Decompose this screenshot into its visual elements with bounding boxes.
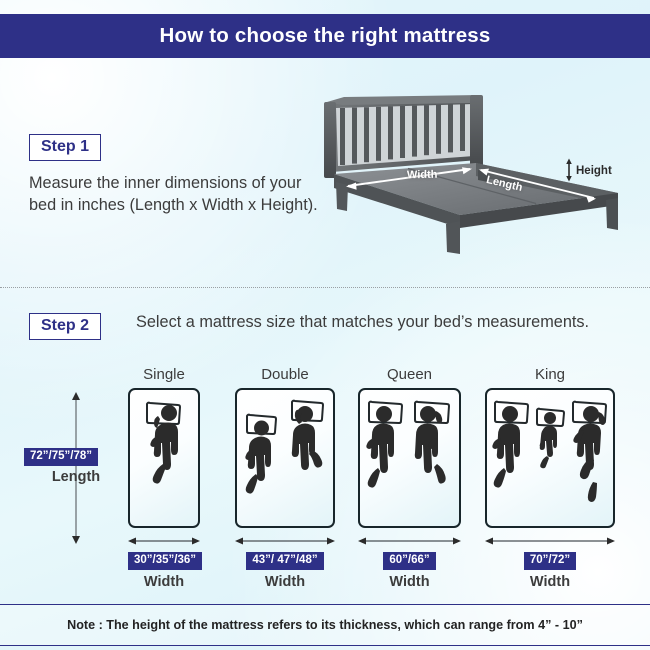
header-bar: How to choose the right mattress bbox=[0, 14, 650, 58]
page-title: How to choose the right mattress bbox=[159, 24, 490, 48]
width-label: Width bbox=[235, 574, 335, 590]
width-badge-row: 30”/35”/36” bbox=[128, 550, 200, 570]
size-title: Queen bbox=[358, 366, 461, 383]
width-arrow bbox=[128, 536, 200, 546]
width-badge-row: 70”/72” bbox=[485, 550, 615, 570]
mattress-card[interactable] bbox=[485, 388, 615, 528]
bed-height-label: Height bbox=[576, 165, 612, 177]
size-column-single[interactable]: Single 30”/3 bbox=[128, 366, 200, 590]
width-badge-row: 43”/ 47”/48” bbox=[235, 550, 335, 570]
width-arrow bbox=[485, 536, 615, 546]
footer-note-text: Note : The height of the mattress refers… bbox=[67, 618, 583, 632]
step-2-description: Select a mattress size that matches your… bbox=[136, 311, 606, 333]
size-column-double[interactable]: Double bbox=[235, 366, 335, 590]
width-arrow bbox=[358, 536, 461, 546]
length-value-badge: 72”/75”/78” bbox=[24, 448, 98, 466]
section-divider bbox=[0, 287, 650, 288]
step-1-badge: Step 1 bbox=[29, 134, 101, 161]
width-arrow-icon bbox=[235, 536, 335, 546]
size-title: Single bbox=[128, 366, 200, 383]
infographic-page: How to choose the right mattress Step 1 … bbox=[0, 0, 650, 650]
size-column-king[interactable]: King bbox=[485, 366, 615, 590]
mattress-card[interactable] bbox=[235, 388, 335, 528]
footer-note: Note : The height of the mattress refers… bbox=[0, 604, 650, 646]
width-badge-row: 60”/66” bbox=[358, 550, 461, 570]
width-label: Width bbox=[128, 574, 200, 590]
width-arrow bbox=[235, 536, 335, 546]
mattress-card[interactable] bbox=[358, 388, 461, 528]
size-title: King bbox=[485, 366, 615, 383]
width-value-badge: 30”/35”/36” bbox=[128, 552, 202, 570]
size-title: Double bbox=[235, 366, 335, 383]
size-column-queen[interactable]: Queen bbox=[358, 366, 461, 590]
width-value-badge: 43”/ 47”/48” bbox=[246, 552, 323, 570]
width-label: Width bbox=[485, 574, 615, 590]
width-value-badge: 60”/66” bbox=[383, 552, 435, 570]
length-label: Length bbox=[24, 469, 128, 485]
width-label: Width bbox=[358, 574, 461, 590]
step-2-badge: Step 2 bbox=[29, 313, 101, 340]
width-arrow-icon bbox=[485, 536, 615, 546]
step-1-description: Measure the inner dimensions of your bed… bbox=[29, 172, 329, 217]
sleeper-figures-icon bbox=[487, 390, 615, 528]
bed-illustration: Width Length Height bbox=[318, 78, 650, 258]
bed-width-label: Width bbox=[407, 169, 438, 182]
width-value-badge: 70”/72” bbox=[524, 552, 576, 570]
width-arrow-icon bbox=[358, 536, 461, 546]
length-arrow-icon bbox=[70, 392, 82, 544]
width-arrow-icon bbox=[128, 536, 200, 546]
sleeper-figures-icon bbox=[360, 390, 461, 528]
mattress-card[interactable] bbox=[128, 388, 200, 528]
sleeper-figures-icon bbox=[130, 390, 200, 528]
length-gauge: 72”/75”/78” Length bbox=[24, 392, 128, 544]
sleeper-figures-icon bbox=[237, 390, 335, 528]
